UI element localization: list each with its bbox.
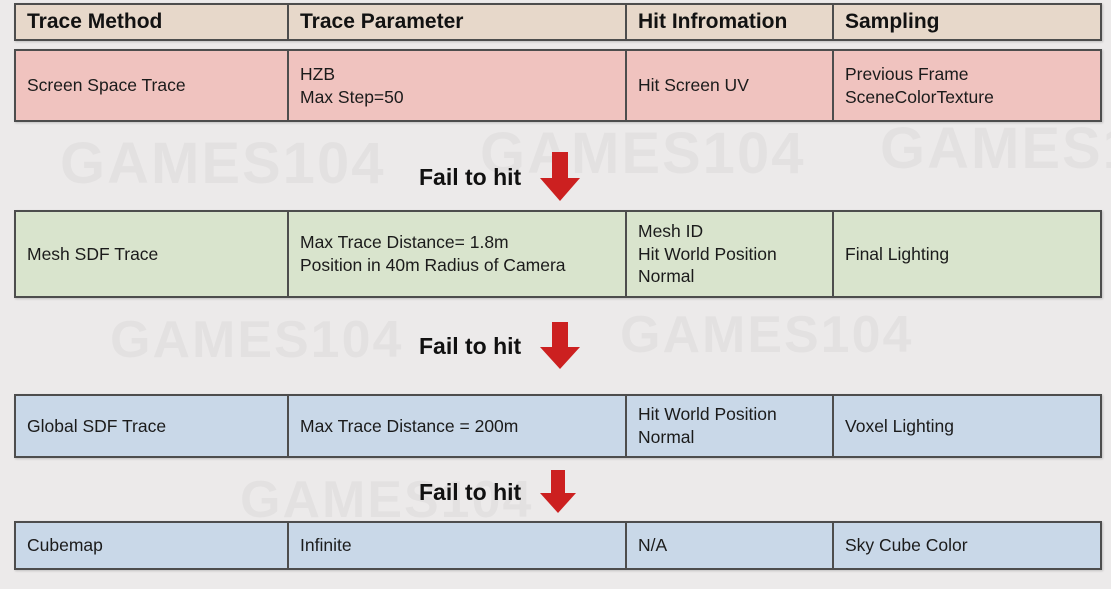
cell-text: Global SDF Trace	[27, 415, 166, 438]
connector-label: Fail to hit	[419, 479, 521, 506]
connector-label: Fail to hit	[419, 164, 521, 191]
connector-label: Fail to hit	[419, 333, 521, 360]
cell-hit-information: Hit Screen UV	[627, 51, 834, 120]
cell-text: Voxel Lighting	[845, 415, 954, 438]
cell-text: N/A	[638, 534, 667, 557]
cell-text: Hit Screen UV	[638, 74, 749, 97]
column-header-label: Trace Parameter	[300, 8, 463, 35]
cell-hit-information: Mesh ID Hit World Position Normal	[627, 212, 834, 296]
cell-text: Infinite	[300, 534, 352, 557]
cell-text: Max Trace Distance= 1.8m Position in 40m…	[300, 231, 566, 277]
cell-text: Final Lighting	[845, 243, 949, 266]
column-header-trace-parameter: Trace Parameter	[289, 5, 627, 39]
connector-fail-to-hit-1: Fail to hit	[419, 152, 581, 202]
cell-text: HZB Max Step=50	[300, 63, 404, 109]
cell-trace-parameter: Infinite	[289, 523, 627, 568]
cell-trace-method: Mesh SDF Trace	[16, 212, 289, 296]
arrow-down-icon	[539, 470, 577, 514]
cell-text: Previous Frame SceneColorTexture	[845, 63, 994, 109]
cell-text: Hit World Position Normal	[638, 403, 777, 449]
cell-text: Mesh SDF Trace	[27, 243, 158, 266]
cell-sampling: Sky Cube Color	[834, 523, 1100, 568]
table-row-mesh-sdf-trace: Mesh SDF Trace Max Trace Distance= 1.8m …	[14, 210, 1102, 298]
cell-trace-parameter: HZB Max Step=50	[289, 51, 627, 120]
cell-text: Screen Space Trace	[27, 74, 186, 97]
cell-sampling: Final Lighting	[834, 212, 1100, 296]
table-row-global-sdf-trace: Global SDF Trace Max Trace Distance = 20…	[14, 394, 1102, 458]
table-row-screen-space-trace: Screen Space Trace HZB Max Step=50 Hit S…	[14, 49, 1102, 122]
cell-text: Cubemap	[27, 534, 103, 557]
column-header-hit-information: Hit Infromation	[627, 5, 834, 39]
watermark: GAMES104	[620, 305, 913, 365]
column-header-label: Trace Method	[27, 8, 162, 35]
column-header-trace-method: Trace Method	[16, 5, 289, 39]
cell-text: Mesh ID Hit World Position Normal	[638, 220, 777, 288]
diagram-canvas: GAMES104 GAMES104 GAMES104 GAMES104 GAME…	[0, 0, 1111, 589]
table-row-cubemap: Cubemap Infinite N/A Sky Cube Color	[14, 521, 1102, 570]
connector-fail-to-hit-2: Fail to hit	[419, 322, 581, 370]
cell-trace-method: Global SDF Trace	[16, 396, 289, 456]
cell-trace-parameter: Max Trace Distance = 200m	[289, 396, 627, 456]
arrow-down-icon	[539, 152, 581, 202]
cell-trace-parameter: Max Trace Distance= 1.8m Position in 40m…	[289, 212, 627, 296]
cell-sampling: Voxel Lighting	[834, 396, 1100, 456]
column-header-sampling: Sampling	[834, 5, 1100, 39]
column-header-label: Hit Infromation	[638, 8, 787, 35]
watermark: GAMES104	[60, 130, 385, 197]
cell-hit-information: N/A	[627, 523, 834, 568]
arrow-down-icon	[539, 322, 581, 370]
cell-sampling: Previous Frame SceneColorTexture	[834, 51, 1100, 120]
cell-trace-method: Screen Space Trace	[16, 51, 289, 120]
connector-fail-to-hit-3: Fail to hit	[419, 470, 577, 514]
watermark: GAMES104	[110, 310, 403, 370]
column-header-label: Sampling	[845, 8, 940, 35]
cell-text: Sky Cube Color	[845, 534, 968, 557]
cell-trace-method: Cubemap	[16, 523, 289, 568]
cell-text: Max Trace Distance = 200m	[300, 415, 518, 438]
table-header-row: Trace Method Trace Parameter Hit Infroma…	[14, 3, 1102, 41]
watermark: GAMES104	[880, 115, 1111, 182]
cell-hit-information: Hit World Position Normal	[627, 396, 834, 456]
